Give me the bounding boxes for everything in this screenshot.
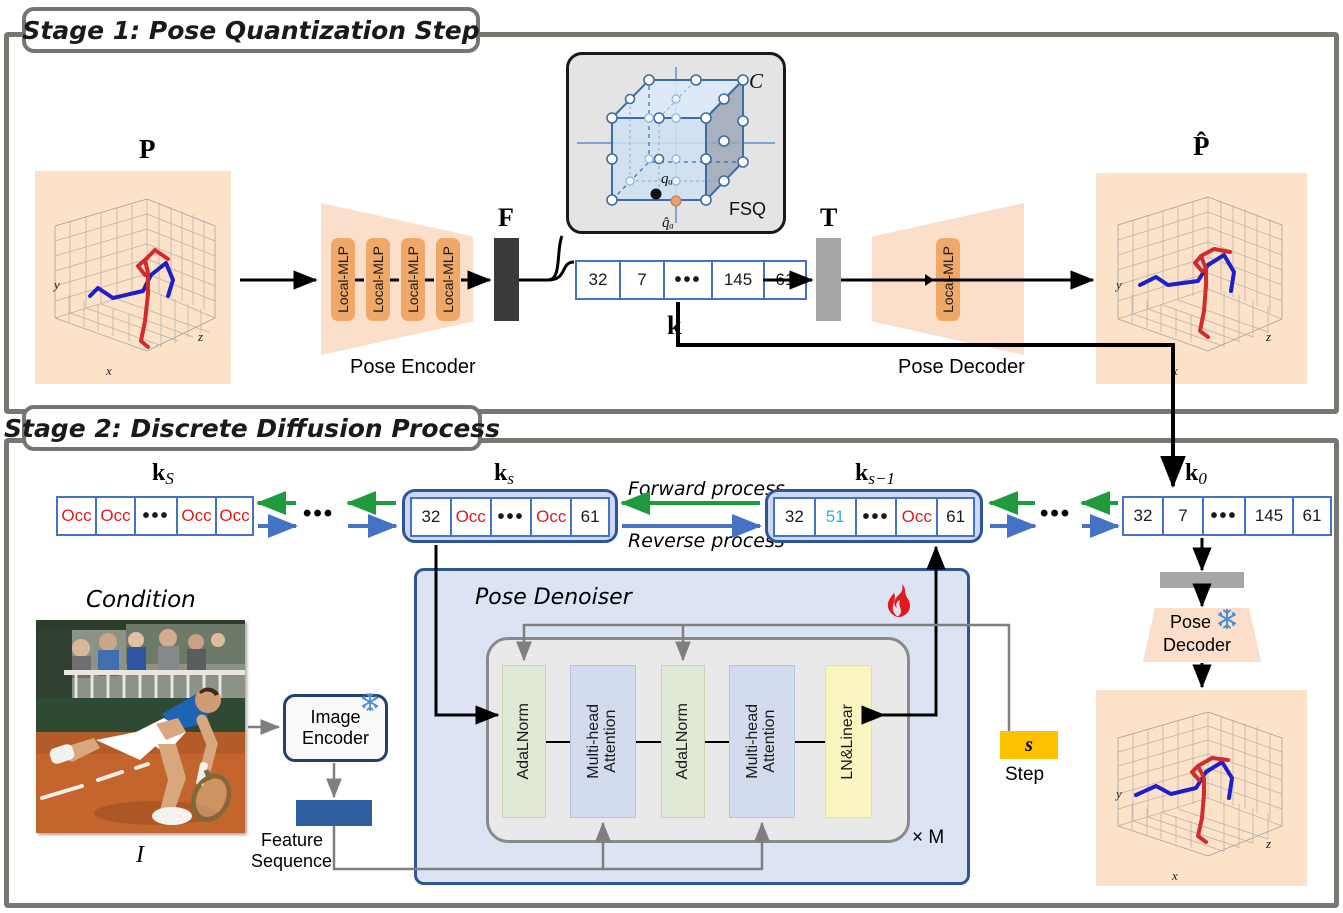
token-strip-ks-1-wrapper: 32 51 ••• Occ 61: [765, 489, 983, 543]
axis-z-label: z: [1265, 329, 1271, 344]
image-encoder-line2: Encoder: [302, 728, 369, 749]
sequence-label-subscript: S: [165, 469, 174, 488]
axis-x-label: x: [1171, 363, 1178, 378]
axis-y-label: y: [52, 277, 60, 292]
pose-decoder-frozen-line1: Pose: [1170, 612, 1211, 633]
token-strip-ks-wrapper: 32 Occ ••• Occ 61: [402, 489, 618, 543]
sequence-label-subscript: s−1: [868, 469, 895, 488]
fsq-panel: qₐ q̂ₐ C FSQ: [566, 52, 786, 234]
token: Occ: [56, 496, 95, 536]
feature-sequence-line2: Sequence: [251, 851, 332, 872]
local-mlp-label: Local-MLP: [335, 246, 351, 313]
local-mlp-block-1: Local-MLP: [331, 238, 355, 321]
condition-label: Condition: [86, 587, 196, 613]
stage2-title-pill: Stage 2: Discrete Diffusion Process: [22, 405, 482, 451]
sequence-label-letter: k: [152, 460, 165, 486]
denoiser-block-adalnorm-1: AdaLNorm: [502, 665, 546, 818]
output-pose-plot: y x z: [1096, 173, 1307, 384]
token-ellipsis: •••: [134, 496, 176, 536]
axis-y-label: y: [1114, 786, 1122, 801]
flame-icon: [884, 583, 916, 619]
sequence-label-letter: k: [1185, 460, 1198, 486]
feature-sequence-bar: [296, 800, 372, 826]
local-mlp-label: Local-MLP: [940, 246, 956, 313]
token: Occ: [450, 497, 490, 537]
token-embed-label: T: [820, 203, 837, 233]
local-mlp-block-3: Local-MLP: [401, 238, 425, 321]
code-token: 7: [619, 260, 663, 300]
code-token: 61: [763, 260, 807, 300]
step-box: s: [1000, 731, 1058, 759]
input-pose-plot: y x z: [35, 171, 231, 384]
token: Occ: [895, 497, 936, 537]
code-sequence-label: k: [667, 311, 681, 341]
condition-image: [36, 620, 245, 833]
sequence-label-ks-1: ks−1: [855, 459, 895, 489]
axis-z-label: z: [1265, 836, 1271, 851]
denoiser-block-attention-2: Multi-head Attention: [729, 665, 795, 818]
input-pose-label: P: [139, 134, 156, 165]
token: 51: [814, 497, 855, 537]
pose-denoiser-title: Pose Denoiser: [475, 585, 632, 610]
token: 32: [410, 497, 450, 537]
axis-z-label: z: [197, 329, 203, 344]
code-token-strip: 32 7 ••• 145 61: [575, 260, 807, 300]
token-strip-kS: Occ Occ ••• Occ Occ: [56, 496, 254, 536]
stage2-title: Stage 2: Discrete Diffusion Process: [4, 414, 500, 443]
denoiser-block-adalnorm-2: AdaLNorm: [661, 665, 705, 818]
decoder-input-bar: [1160, 572, 1244, 588]
token: Occ: [530, 497, 570, 537]
token: 32: [1122, 496, 1162, 536]
denoiser-repeat-label: × M: [912, 827, 944, 849]
token: 145: [1244, 496, 1292, 536]
feature-bar: [494, 238, 519, 321]
denoiser-block-label: AdaLNorm: [675, 703, 692, 779]
step-caption: Step: [1005, 764, 1044, 786]
token: 32: [773, 497, 814, 537]
local-mlp-label: Local-MLP: [370, 246, 386, 313]
axis-x-label: x: [105, 363, 112, 378]
stage1-title-pill: Stage 1: Pose Quantization Step: [22, 7, 480, 53]
token: Occ: [95, 496, 134, 536]
token-ellipsis: •••: [490, 497, 531, 537]
figure-canvas: Stage 1: Pose Quantization Step Stage 2:…: [0, 0, 1343, 913]
sequence-label-subscript: s: [507, 469, 514, 488]
sequence-label-letter: k: [494, 460, 507, 486]
axis-x-label: x: [1171, 868, 1178, 883]
pose-decoder-caption: Pose Decoder: [898, 356, 1025, 379]
denoiser-block-label: Multi-head Attention: [745, 704, 779, 779]
token-ellipsis: •••: [1202, 496, 1244, 536]
token-strip-ks: 32 Occ ••• Occ 61: [410, 497, 610, 537]
axis-y-label: y: [1114, 277, 1122, 292]
token-embed-bar: [816, 238, 841, 321]
denoiser-block-label: AdaLNorm: [516, 703, 533, 779]
token: 61: [1292, 496, 1332, 536]
image-encoder-line1: Image: [310, 707, 360, 728]
denoiser-block-lnlinear: LN&Linear: [825, 665, 872, 818]
denoiser-block-attention-1: Multi-head Attention: [570, 665, 636, 818]
code-token: 32: [575, 260, 619, 300]
local-mlp-label: Local-MLP: [405, 246, 421, 313]
token-ellipsis: •••: [855, 497, 896, 537]
sequence-label-kS: kS: [152, 459, 174, 489]
token: Occ: [215, 496, 254, 536]
final-pose-plot: y x z: [1096, 690, 1307, 886]
codebook-label: C: [749, 69, 764, 93]
forward-process-label: Forward process: [628, 478, 785, 500]
fsq-title: FSQ: [729, 199, 766, 219]
snowflake-icon: [360, 692, 380, 712]
snowflake-icon: [1216, 608, 1238, 630]
code-token-ellipsis: •••: [663, 260, 711, 300]
condition-image-label: I: [136, 842, 144, 869]
output-pose-label: P̂: [1193, 131, 1210, 162]
local-mlp-block-decoder: Local-MLP: [936, 238, 960, 321]
local-mlp-block-2: Local-MLP: [366, 238, 390, 321]
q-hat-i-label: q̂ₐ: [662, 215, 674, 231]
step-symbol: s: [1025, 734, 1033, 757]
token-strip-k0: 32 7 ••• 145 61: [1122, 496, 1332, 536]
token: Occ: [176, 496, 215, 536]
token: 7: [1162, 496, 1202, 536]
feature-label: F: [498, 203, 514, 233]
denoiser-block-label: LN&Linear: [840, 704, 857, 780]
sequence-gap-ellipsis-1: •••: [303, 500, 334, 528]
feature-sequence-line1: Feature: [261, 830, 323, 851]
q-i-label: qₐ: [661, 171, 673, 187]
sequence-label-k0: k0: [1185, 459, 1207, 489]
sequence-label-ks: ks: [494, 459, 514, 489]
sequence-label-letter: k: [855, 460, 868, 486]
token: 61: [936, 497, 975, 537]
local-mlp-block-4: Local-MLP: [436, 238, 460, 321]
sequence-label-subscript: 0: [1198, 469, 1207, 488]
sequence-gap-ellipsis-2: •••: [1040, 500, 1071, 528]
local-mlp-label: Local-MLP: [440, 246, 456, 313]
pose-decoder-frozen-line2: Decoder: [1163, 635, 1231, 656]
denoiser-block-label: Multi-head Attention: [586, 704, 620, 779]
token: 61: [570, 497, 610, 537]
stage1-title: Stage 1: Pose Quantization Step: [22, 16, 479, 45]
token-strip-ks-1: 32 51 ••• Occ 61: [773, 497, 975, 537]
pose-encoder-caption: Pose Encoder: [350, 356, 476, 379]
reverse-process-label: Reverse process: [628, 530, 785, 552]
code-token: 145: [711, 260, 763, 300]
